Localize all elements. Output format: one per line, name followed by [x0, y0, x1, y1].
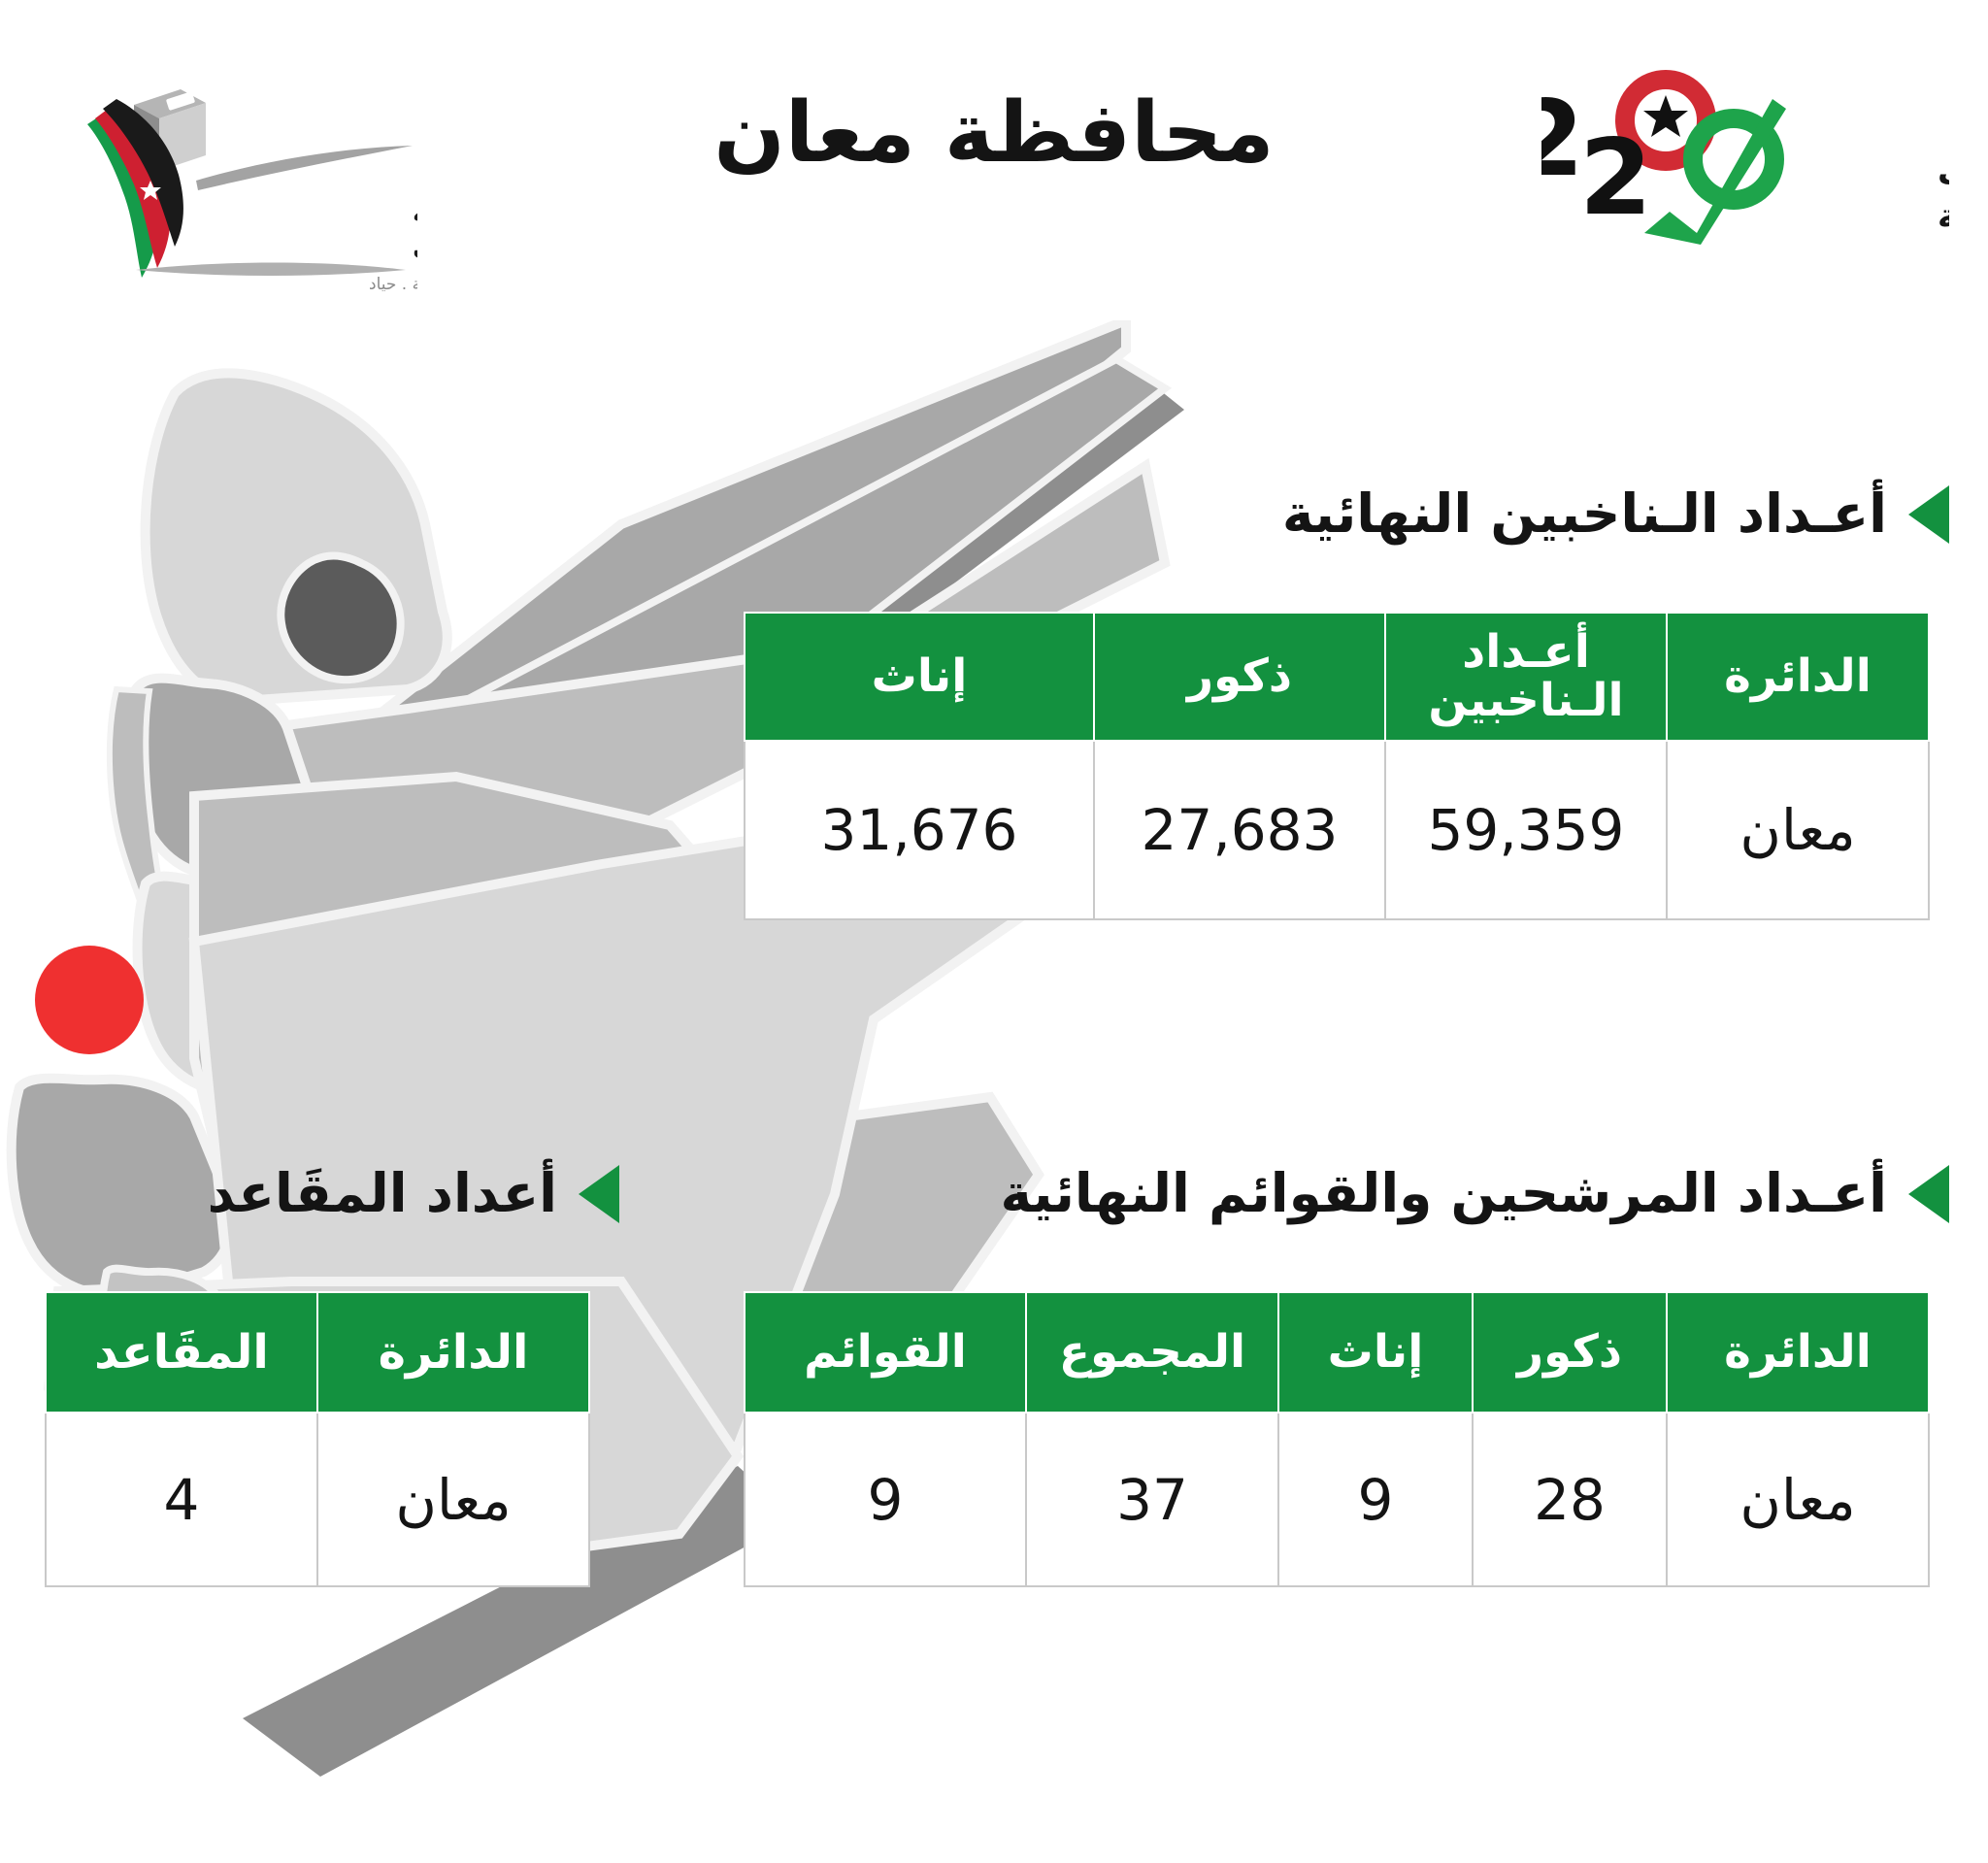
value-lists: 9	[868, 1467, 904, 1533]
column-header-total: المجموع	[1026, 1292, 1278, 1413]
logo-digit-2a: 2	[1541, 79, 1584, 200]
logo-digit-2b: 2	[1579, 117, 1652, 239]
elections-logo-line1: الانتخابات	[1938, 154, 1949, 193]
section-heading-final-voter-counts: أعـداد الـناخبين النهائية	[1282, 485, 1949, 544]
cell-females: 31,676	[745, 741, 1094, 919]
column-header-district: الدائرة	[1667, 1292, 1929, 1413]
amman-region	[281, 556, 400, 681]
table-header-row: الدائرة ذكور إناث المجموع القوائم	[745, 1292, 1929, 1413]
cell-total: 37	[1026, 1413, 1278, 1586]
final-voters-table: الدائرة أعـداد الـناخبين ذكور إناث معان …	[744, 612, 1930, 920]
seats-table: الدائرة المقَاعد معان 4	[45, 1291, 590, 1587]
cell-district: معان	[1667, 741, 1929, 919]
section-heading-final-candidates-and-lists: أعـداد المرشحين والقوائم النهائية	[1000, 1165, 1949, 1223]
column-header-lists: القوائم	[745, 1292, 1026, 1413]
value-total: 37	[1116, 1467, 1188, 1533]
final-candidates-table: الدائرة ذكور إناث المجموع القوائم معان 2…	[744, 1291, 1930, 1587]
column-header-males: ذكور	[1473, 1292, 1667, 1413]
logo-divider-swoosh	[136, 263, 406, 277]
table-row: معان 59,359 27,683 31,676	[745, 741, 1929, 919]
value-seats: 4	[164, 1467, 200, 1533]
table-header-row: الدائرة أعـداد الـناخبين ذكور إناث	[745, 613, 1929, 741]
section-heading-label: أعـداد المرشحين والقوائم النهائية	[1000, 1166, 1887, 1222]
cell-district: معان	[317, 1413, 589, 1586]
parliamentary-elections-2020-logo: 2 2 الانتخابات النيابية	[1541, 60, 1949, 245]
column-header-females: إناث	[1278, 1292, 1473, 1413]
page-header: الهيئة المستقلة للانتخاب أمانة . نزاهة .…	[0, 0, 1988, 301]
section-heading-seat-counts: أعداد المقَاعد	[0, 1165, 619, 1223]
maan-location-marker	[35, 946, 144, 1054]
cell-district: معان	[1667, 1413, 1929, 1586]
iec-logo-tagline: أمانة . نزاهة . حياد	[369, 273, 417, 291]
cell-voters-total: 59,359	[1385, 741, 1667, 919]
cell-males: 28	[1473, 1413, 1667, 1586]
column-header-district: الدائرة	[317, 1292, 589, 1413]
cell-females: 9	[1278, 1413, 1473, 1586]
column-header-males: ذكور	[1094, 613, 1385, 741]
value-males: 28	[1534, 1467, 1606, 1533]
column-header-voters-total: أعـداد الـناخبين	[1385, 613, 1667, 741]
elections-logo-line2: النيابية	[1938, 197, 1949, 236]
table-row: معان 28 9 37 9	[745, 1413, 1929, 1586]
column-header-seats: المقَاعد	[46, 1292, 317, 1413]
value-males: 27,683	[1142, 797, 1339, 863]
triangle-bullet-icon	[1908, 1165, 1949, 1223]
section-heading-label: أعداد المقَاعد	[208, 1166, 557, 1222]
cell-seats: 4	[46, 1413, 317, 1586]
iec-logo-line2: للانتخاب	[413, 235, 417, 265]
section-heading-label: أعـداد الـناخبين النهائية	[1282, 486, 1887, 543]
value-females: 31,676	[821, 797, 1018, 863]
table-row: معان 4	[46, 1413, 589, 1586]
column-header-females: إناث	[745, 613, 1094, 741]
table-header-row: الدائرة المقَاعد	[46, 1292, 589, 1413]
cell-lists: 9	[745, 1413, 1026, 1586]
triangle-bullet-icon	[579, 1165, 619, 1223]
value-voters-total: 59,359	[1428, 797, 1625, 863]
iec-logo-line1: الهيئة المستقلة	[413, 198, 417, 228]
cell-males: 27,683	[1094, 741, 1385, 919]
column-header-district: الدائرة	[1667, 613, 1929, 741]
triangle-bullet-icon	[1908, 485, 1949, 544]
value-females: 9	[1358, 1467, 1394, 1533]
